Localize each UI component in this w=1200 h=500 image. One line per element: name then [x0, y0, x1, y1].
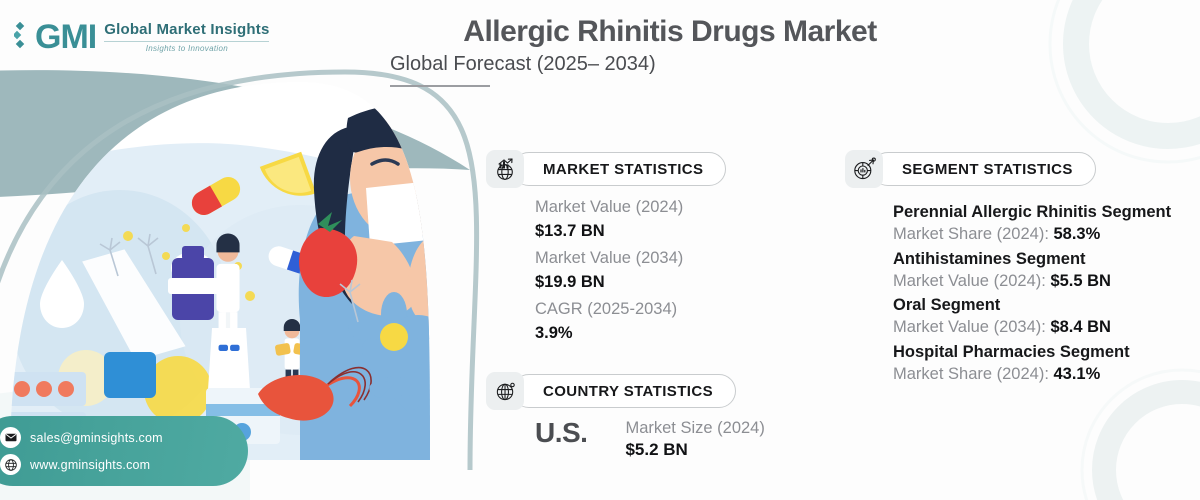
segment-metric: Market Share (2024): 43.1% — [893, 363, 1193, 387]
illus-pipette-bulb — [104, 352, 156, 398]
segment-name: Hospital Pharmacies Segment — [893, 343, 1193, 363]
country-metric-value: $5.2 BN — [625, 439, 764, 462]
segment-statistics-badge: SEGMENT STATISTICS — [845, 150, 1096, 188]
header-block: Allergic Rhinitis Drugs Market Global Fo… — [390, 14, 950, 87]
infographic-canvas: GMI Global Market Insights Insights to I… — [0, 0, 1200, 500]
page-title: Allergic Rhinitis Drugs Market — [390, 14, 950, 49]
country-code: U.S. — [535, 418, 587, 449]
stat-row: CAGR (2025-2034) 3.9% — [535, 298, 835, 344]
segment-metric-value: $5.5 BN — [1050, 272, 1111, 290]
country-statistics-badge: COUNTRY STATISTICS — [486, 372, 736, 410]
segment-item: Perennial Allergic Rhinitis Segment Mark… — [893, 203, 1193, 247]
market-statistics-label: MARKET STATISTICS — [512, 152, 726, 186]
contact-bar: sales@gminsights.com www.gminsights.com — [0, 416, 248, 486]
logo-tagline: Insights to Innovation — [104, 44, 269, 53]
segment-metric: Market Value (2034): $8.4 BN — [893, 316, 1193, 340]
segment-item: Hospital Pharmacies Segment Market Share… — [893, 343, 1193, 387]
market-statistics-list: Market Value (2024) $13.7 BN Market Valu… — [535, 196, 835, 350]
market-statistics-badge: MARKET STATISTICS — [486, 150, 726, 188]
segment-metric-value: 43.1% — [1054, 365, 1101, 383]
segment-metric-value: $8.4 BN — [1050, 318, 1111, 336]
stat-label: Market Value (2024) — [535, 196, 835, 220]
donut-chart-target-icon — [845, 150, 883, 188]
stat-row: Market Value (2034) $19.9 BN — [535, 247, 835, 293]
logo-company-name: Global Market Insights — [104, 21, 269, 38]
logo-diamond-icon — [14, 22, 28, 52]
segment-item: Antihistamines Segment Market Value (202… — [893, 250, 1193, 294]
country-statistics-label: COUNTRY STATISTICS — [512, 374, 736, 408]
globe-pin-icon — [486, 372, 524, 410]
contact-website-row[interactable]: www.gminsights.com — [0, 454, 248, 475]
stat-value: $19.9 BN — [535, 271, 835, 293]
envelope-icon — [0, 427, 21, 448]
country-metric-label: Market Size (2024) — [625, 418, 764, 439]
country-statistics-row: U.S. Market Size (2024) $5.2 BN — [535, 418, 765, 462]
globe-growth-chart-icon — [486, 150, 524, 188]
stat-label: CAGR (2025-2034) — [535, 298, 835, 322]
illus-tissue — [366, 178, 468, 246]
stat-label: Market Value (2034) — [535, 247, 835, 271]
stat-value: $13.7 BN — [535, 220, 835, 242]
segment-metric-label: Market Value (2024): — [893, 272, 1050, 290]
illus-hand-right — [408, 240, 468, 325]
stat-value: 3.9% — [535, 322, 835, 344]
segment-metric-label: Market Share (2024): — [893, 365, 1054, 383]
contact-email-row[interactable]: sales@gminsights.com — [0, 427, 248, 448]
decor-ring-bottom-right — [1104, 392, 1200, 500]
segment-metric: Market Share (2024): 58.3% — [893, 223, 1193, 247]
allergy-illustration — [0, 60, 470, 460]
segment-statistics-label: SEGMENT STATISTICS — [871, 152, 1096, 186]
segment-metric-value: 58.3% — [1054, 225, 1101, 243]
contact-email: sales@gminsights.com — [30, 431, 163, 445]
contact-website: www.gminsights.com — [30, 458, 150, 472]
decor-ring-top-right — [1076, 0, 1200, 136]
segment-statistics-list: Perennial Allergic Rhinitis Segment Mark… — [893, 200, 1193, 387]
brand-logo: GMI Global Market Insights Insights to I… — [14, 20, 269, 54]
illus-hair-right — [448, 120, 470, 328]
segment-name: Perennial Allergic Rhinitis Segment — [893, 203, 1193, 223]
stat-row: Market Value (2024) $13.7 BN — [535, 196, 835, 242]
logo-wordmark: GMI — [35, 20, 96, 54]
segment-item: Oral Segment Market Value (2034): $8.4 B… — [893, 296, 1193, 340]
segment-metric-label: Market Share (2024): — [893, 225, 1054, 243]
segment-name: Antihistamines Segment — [893, 250, 1193, 270]
segment-metric: Market Value (2024): $5.5 BN — [893, 270, 1193, 294]
globe-icon — [0, 454, 21, 475]
page-subtitle: Global Forecast (2025– 2034) — [390, 53, 950, 76]
subtitle-underline — [390, 85, 490, 87]
logo-divider — [104, 41, 269, 42]
segment-metric-label: Market Value (2034): — [893, 318, 1050, 336]
segment-name: Oral Segment — [893, 296, 1193, 316]
